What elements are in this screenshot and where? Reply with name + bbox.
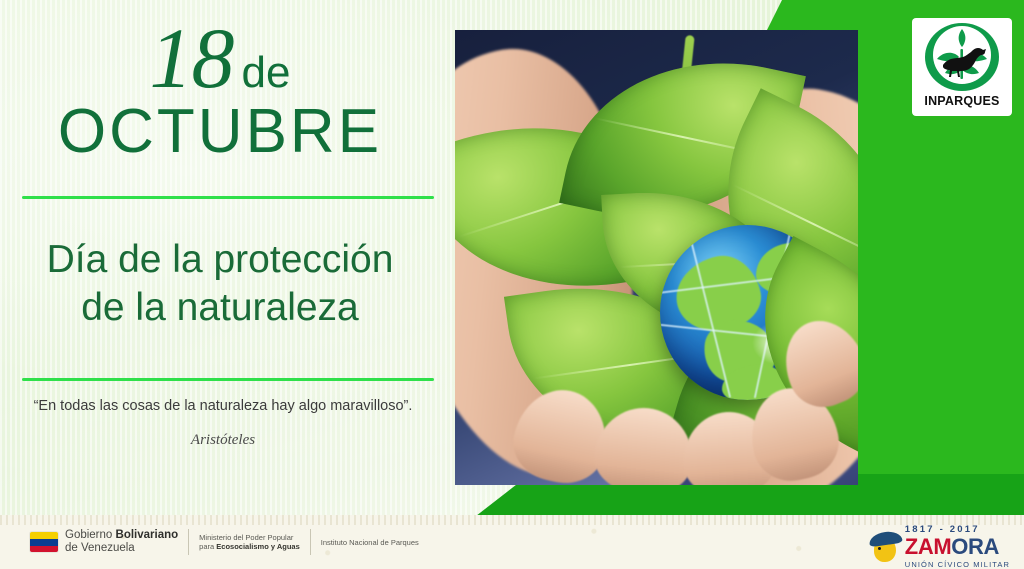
inparques-wordmark: INPARQUES	[924, 94, 999, 108]
ministry-wordmark: Ministerio del Poder Popular para Ecosoc…	[199, 533, 300, 553]
ministry-line-2-bold: Ecosocialismo y Aguas	[216, 542, 300, 551]
venezuela-flag-icon	[30, 532, 58, 552]
quote-text: “En todas las cosas de la naturaleza hay…	[18, 398, 428, 414]
deer-and-leaves-icon	[925, 23, 999, 91]
zamora-face-eye	[878, 547, 881, 550]
gobierno-light: Gobierno	[65, 529, 116, 541]
headline-month: OCTUBRE	[0, 96, 440, 167]
photo-hands-holding-leaf-and-globe	[455, 30, 858, 485]
zamora-face-icon	[869, 530, 903, 564]
government-wordmark: Gobierno Bolivariano de Venezuela	[65, 529, 178, 556]
subtitle-line-2: de la naturaleza	[0, 284, 440, 332]
poster-canvas: 18de OCTUBRE Día de la protección de la …	[0, 0, 1024, 569]
zamora-wordmark: ZAMORA	[905, 536, 999, 558]
headline-date: 18de OCTUBRE	[0, 18, 440, 167]
zamora-face-hat	[868, 530, 902, 547]
inparques-emblem-circle	[925, 23, 999, 91]
subtitle-line-1: Día de la protección	[0, 236, 440, 284]
zamora-word-part-1: ZAM	[905, 534, 951, 559]
footer-divider	[188, 529, 189, 555]
zamora-subtitle: UNIÓN CÍVICO MILITAR	[905, 560, 1010, 569]
zamora-badge: 1817 - 2017 ZAMORA UNIÓN CÍVICO MILITAR	[869, 525, 1010, 569]
footer-speckle-strip	[0, 515, 1024, 525]
quote-author: Aristóteles	[18, 432, 428, 449]
flag-stripe-red	[30, 546, 58, 553]
government-logo-group: Gobierno Bolivariano de Venezuela Minist…	[30, 529, 419, 556]
ministry-line-1: Ministerio del Poder Popular	[199, 533, 300, 543]
zamora-word-part-2: ORA	[951, 534, 999, 559]
footer-bar: Gobierno Bolivariano de Venezuela Minist…	[0, 515, 1024, 569]
poster-subtitle: Día de la protección de la naturaleza	[0, 236, 440, 331]
headline-day: 18	[150, 18, 234, 100]
footer-divider	[310, 529, 311, 555]
divider-rule-bottom	[22, 378, 434, 381]
instituto-wordmark: Instituto Nacional de Parques	[321, 538, 419, 547]
flag-stripe-yellow	[30, 532, 58, 539]
inparques-logo: INPARQUES	[912, 18, 1012, 116]
ministry-line-2-light: para	[199, 542, 216, 551]
divider-rule-top	[22, 196, 434, 199]
zamora-text-group: 1817 - 2017 ZAMORA UNIÓN CÍVICO MILITAR	[905, 525, 1010, 569]
headline-connector: de	[242, 48, 291, 98]
gobierno-line-2: de Venezuela	[65, 542, 178, 555]
gobierno-bold: Bolivariano	[116, 529, 179, 541]
flag-stripe-blue	[30, 539, 58, 546]
